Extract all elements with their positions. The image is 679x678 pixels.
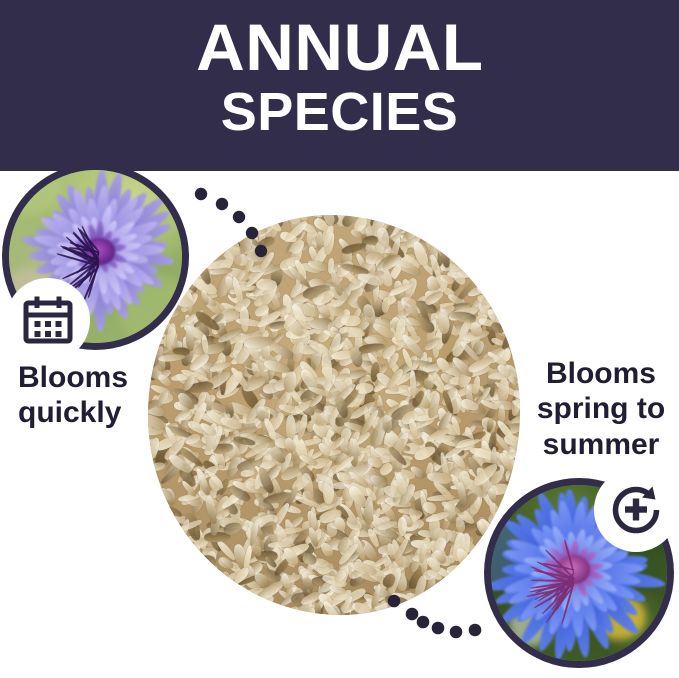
- seed-texture: [148, 215, 520, 615]
- caption-line: Blooms: [526, 356, 676, 391]
- calendar-icon: [22, 294, 74, 346]
- page-title-secondary: SPECIES: [221, 84, 459, 141]
- page-title-primary: ANNUAL: [196, 14, 483, 80]
- caption-line: summer: [526, 427, 676, 462]
- seed-pile-image: [148, 215, 520, 615]
- caption-blooms-spring-to-summer: Blooms spring to summer: [526, 356, 676, 462]
- caption-line: spring to: [526, 391, 676, 426]
- caption-blooms-quickly: Blooms quickly: [18, 360, 178, 431]
- renew-plus-icon: [608, 482, 664, 538]
- header-banner: ANNUAL SPECIES: [0, 0, 679, 171]
- infographic-canvas: ANNUAL SPECIES: [0, 0, 679, 678]
- calendar-icon-badge: [6, 278, 90, 362]
- caption-line: Blooms: [18, 360, 178, 395]
- renew-plus-icon-badge: [594, 468, 678, 552]
- caption-line: quickly: [18, 395, 178, 430]
